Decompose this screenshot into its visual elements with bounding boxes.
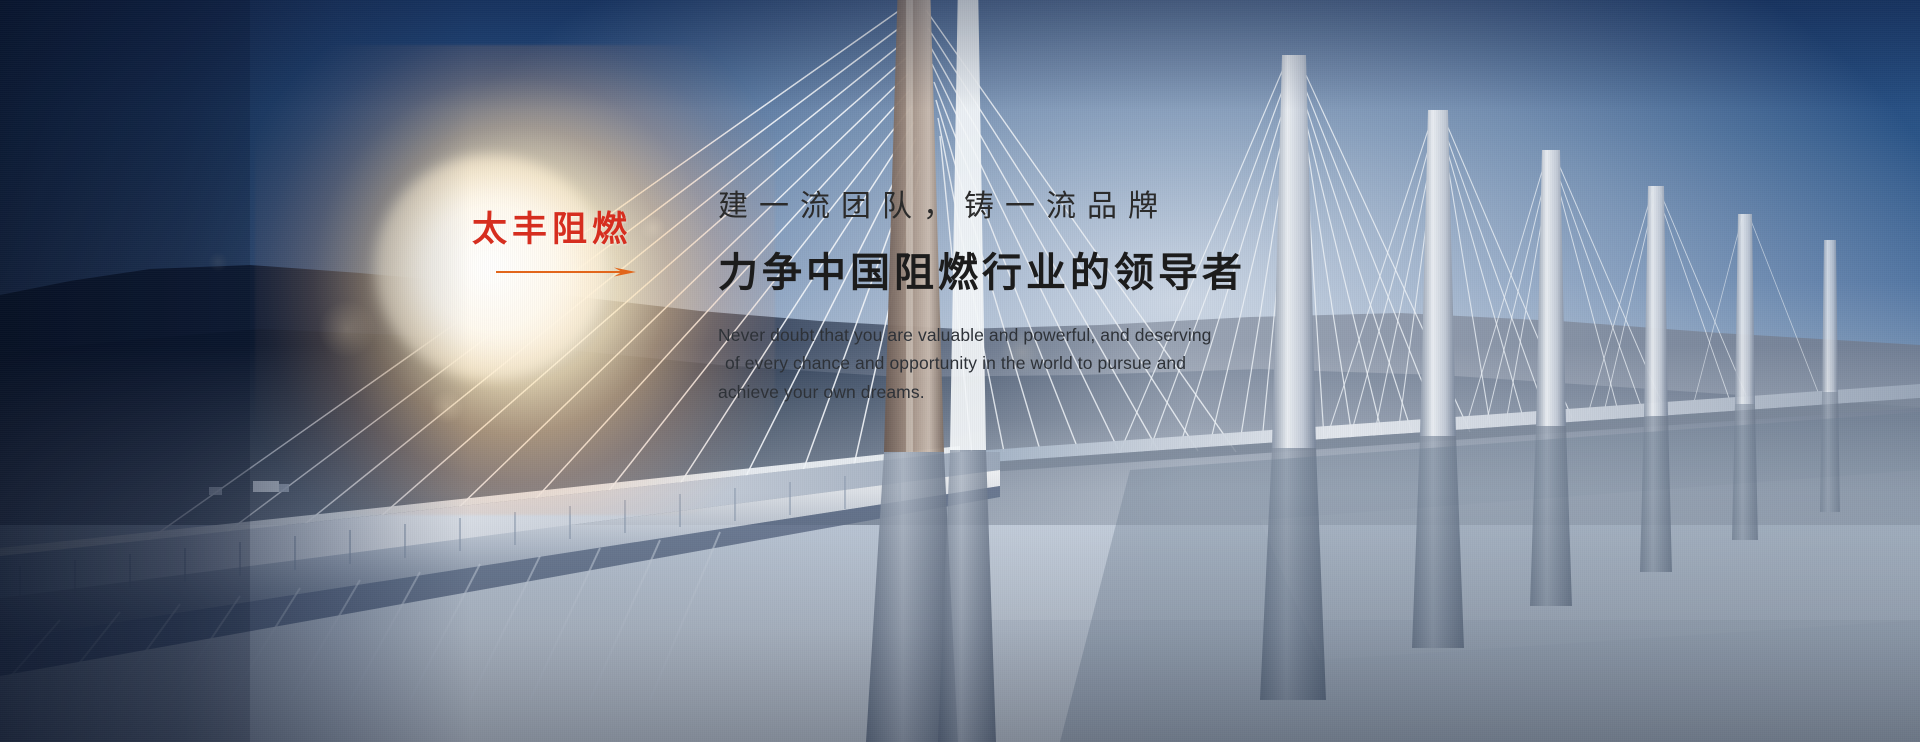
long-right-arrow-icon (496, 266, 636, 278)
headline-primary: 建一流团队，铸一流品牌 (718, 192, 1246, 222)
hero-banner: 太丰阻燃 建一流团队，铸一流品牌 力争中国阻燃行业的领导者 Never doub… (0, 0, 1920, 742)
brand-logo-text: 太丰阻燃 (462, 212, 642, 249)
headline-secondary: 力争中国阻燃行业的领导者 (718, 253, 1246, 293)
headline-group: 建一流团队，铸一流品牌 力争中国阻燃行业的领导者 Never doubt tha… (718, 192, 1246, 406)
tagline-line-1: Never doubt that you are valuable and po… (718, 321, 1246, 349)
tagline-line-2: of every chance and opportunity in the w… (718, 349, 1246, 377)
tagline-line-3: achieve your own dreams. (718, 378, 1246, 406)
logo-arrow-underline (496, 266, 636, 278)
tagline-paragraph: Never doubt that you are valuable and po… (718, 321, 1246, 406)
brand-logo[interactable]: 太丰阻燃 (462, 212, 642, 278)
banner-content: 太丰阻燃 建一流团队，铸一流品牌 力争中国阻燃行业的领导者 Never doub… (0, 0, 1920, 742)
